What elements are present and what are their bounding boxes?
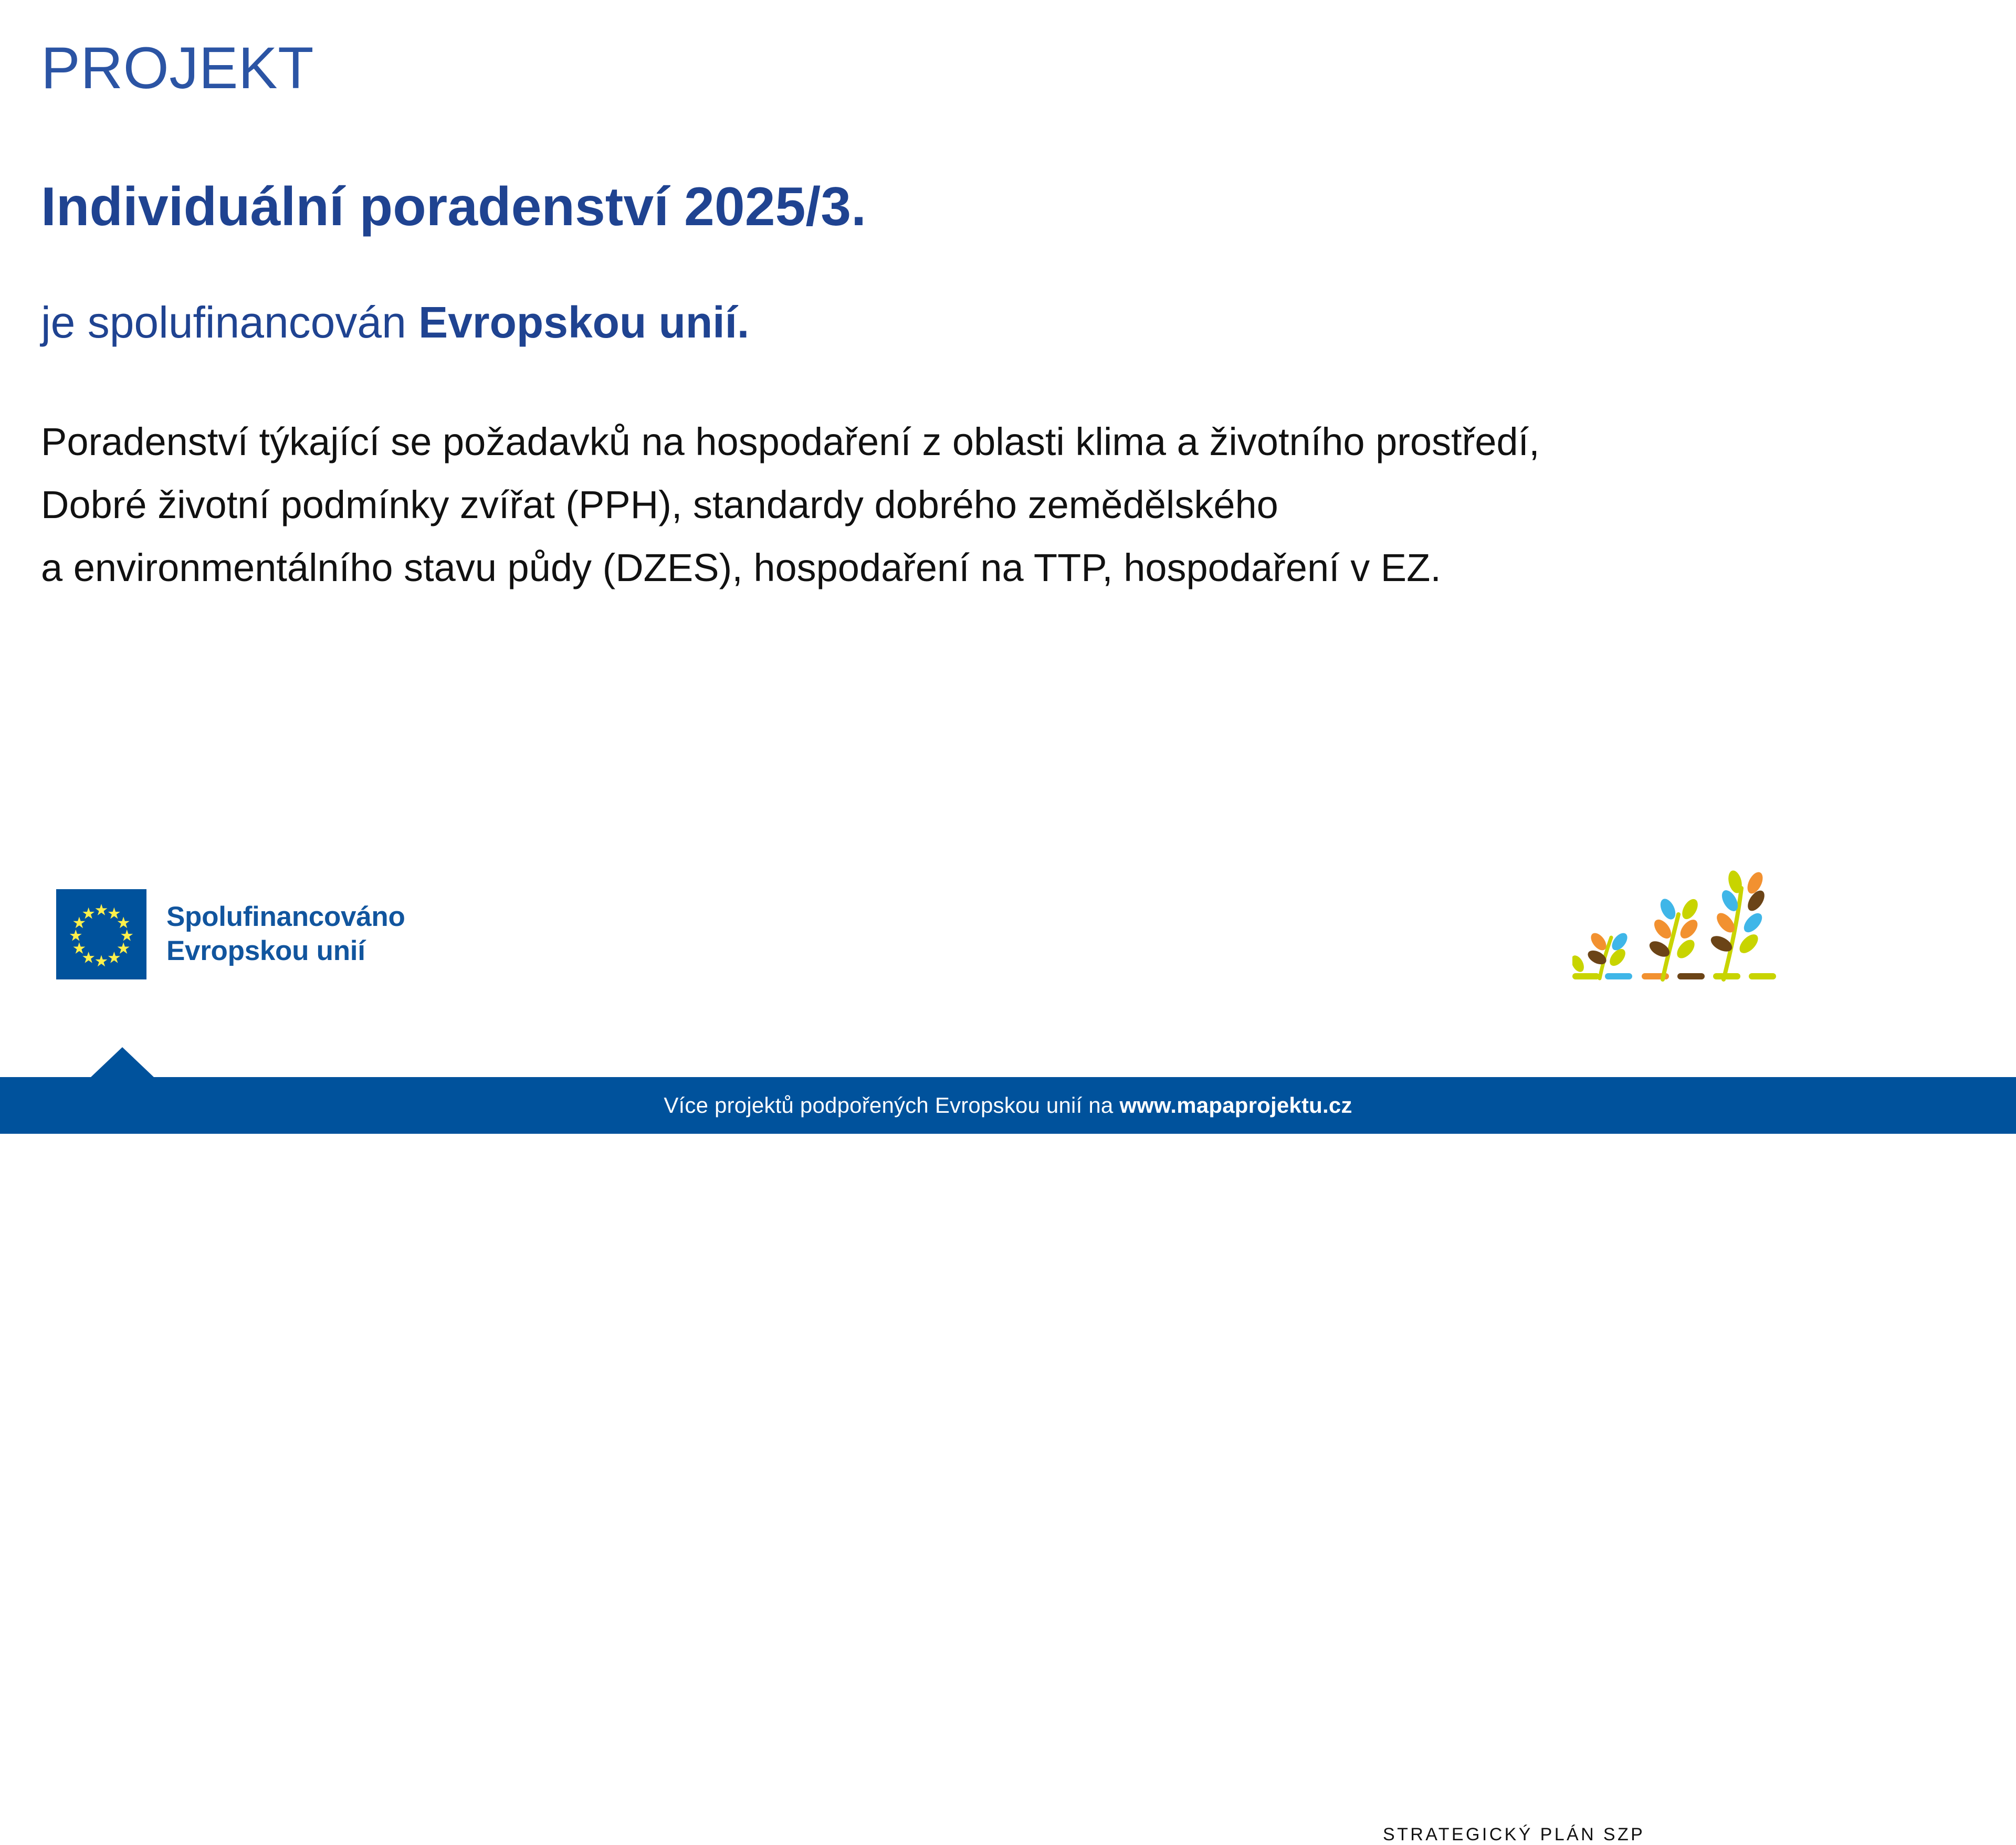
description-line: Poradenství týkající se požadavků na hos… (41, 410, 1983, 473)
page-eyebrow: PROJEKT (41, 39, 314, 98)
page-title: Individuální poradenství 2025/3. (41, 180, 866, 234)
footer-bar: Více projektů podpořených Evropskou unií… (0, 1077, 2016, 1134)
footer-text: Více projektů podpořených Evropskou unií… (664, 1093, 1352, 1118)
funding-statement-prefix: je spolufinancován (41, 298, 418, 347)
funding-statement: je spolufinancován Evropskou unií. (41, 300, 749, 344)
slide-canvas: PROJEKT Individuální poradenství 2025/3.… (0, 0, 2016, 1134)
footer-text-prefix: Více projektů podpořených Evropskou unií… (664, 1093, 1119, 1117)
description-line: Dobré životní podmínky zvířat (PPH), sta… (41, 473, 1983, 536)
footer-url-link[interactable]: www.mapaprojektu.cz (1119, 1093, 1352, 1117)
footer-peak-marker (90, 1047, 154, 1078)
project-description: Poradenství týkající se požadavků na hos… (41, 410, 1983, 599)
eu-cofunded-emblem: Spolufinancováno Evropskou unií (56, 889, 405, 979)
eu-emblem-text-line-1: Spolufinancováno (166, 900, 405, 934)
eu-emblem-text-line-2: Evropskou unií (166, 934, 405, 968)
szp-logo-caption: STRATEGICKÝ PLÁN SZP (1383, 1825, 1645, 1845)
funding-statement-emphasis: Evropskou unií. (418, 298, 749, 347)
szp-plant-icon (1572, 870, 1798, 1012)
eu-emblem-text: Spolufinancováno Evropskou unií (166, 900, 405, 968)
eu-flag-icon (56, 889, 146, 979)
description-line: a environmentálního stavu půdy (DZES), h… (41, 536, 1983, 599)
